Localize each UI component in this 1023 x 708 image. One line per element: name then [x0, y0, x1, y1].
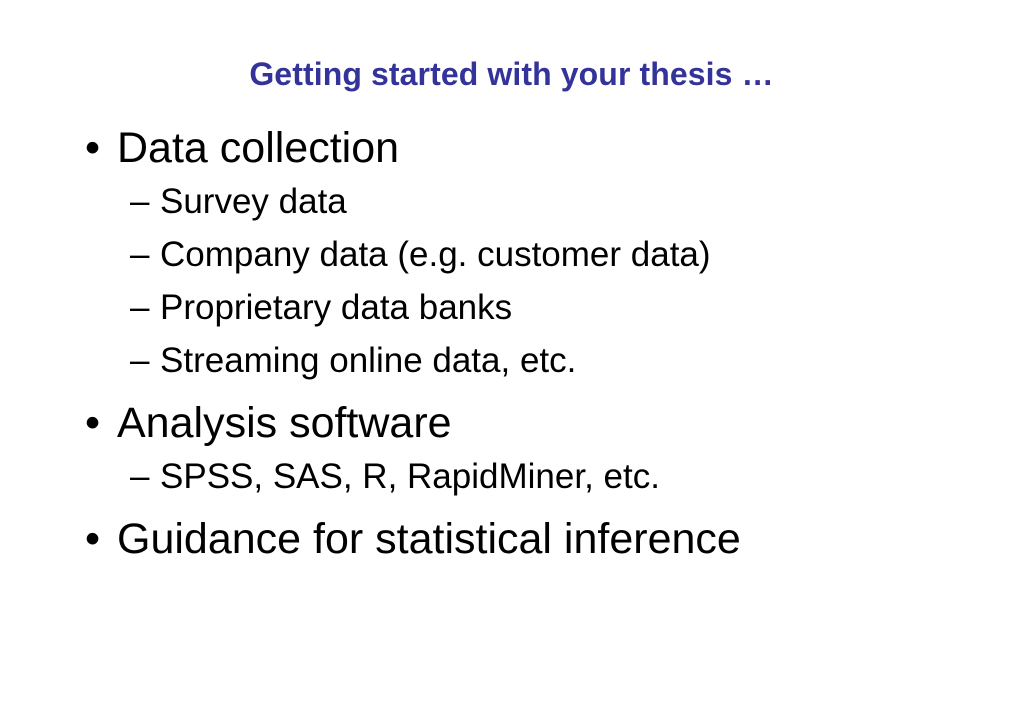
bullet-marker-dot: • [85, 513, 100, 566]
bullet-text: Streaming online data, etc. [160, 341, 576, 380]
bullet-text: Guidance for statistical inference [117, 515, 741, 563]
slide-title: Getting started with your thesis … [0, 54, 1023, 94]
bullet-spacer [0, 503, 1023, 513]
bullet-marker-dash: – [130, 228, 149, 281]
bullet-item-level2: – Company data (e.g. customer data) [0, 228, 1023, 281]
slide-body: • Data collection – Survey data – Compan… [0, 122, 1023, 566]
bullet-marker-dash: – [130, 175, 149, 228]
bullet-text: Company data (e.g. customer data) [160, 235, 711, 274]
bullet-item-level2: – Streaming online data, etc. [0, 334, 1023, 387]
bullet-marker-dot: • [85, 122, 100, 175]
bullet-item-level2: – Proprietary data banks [0, 281, 1023, 334]
bullet-text: Survey data [160, 182, 347, 221]
bullet-item-level1: • Data collection [0, 122, 1023, 175]
bullet-item-level1: • Analysis software [0, 397, 1023, 450]
bullet-marker-dash: – [130, 281, 149, 334]
presentation-slide: Getting started with your thesis … • Dat… [0, 0, 1023, 708]
bullet-text: Analysis software [117, 399, 452, 447]
bullet-text: Data collection [117, 124, 399, 172]
bullet-marker-dot: • [85, 397, 100, 450]
bullet-marker-dash: – [130, 334, 149, 387]
bullet-text: Proprietary data banks [160, 288, 512, 327]
bullet-spacer [0, 387, 1023, 397]
bullet-item-level2: – Survey data [0, 175, 1023, 228]
bullet-text: SPSS, SAS, R, RapidMiner, etc. [160, 457, 660, 496]
bullet-item-level2: – SPSS, SAS, R, RapidMiner, etc. [0, 450, 1023, 503]
bullet-marker-dash: – [130, 450, 149, 503]
bullet-item-level1: • Guidance for statistical inference [0, 513, 1023, 566]
